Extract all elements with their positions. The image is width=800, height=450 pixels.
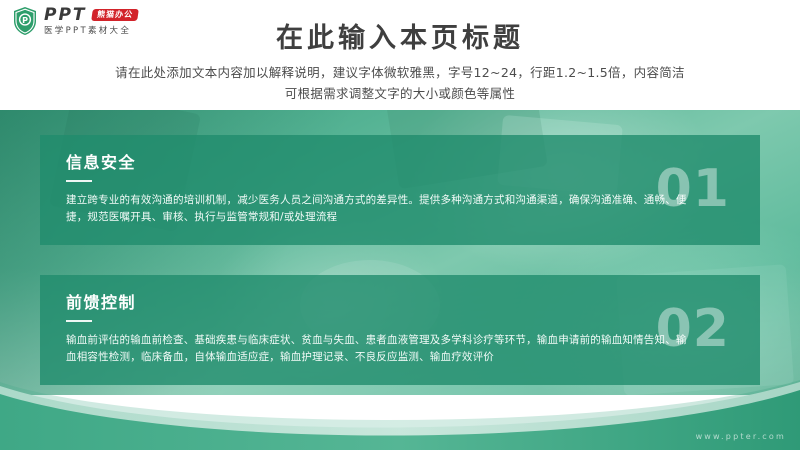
panel-body: 建立跨专业的有效沟通的培训机制，减少医务人员之间沟通方式的差异性。提供多种沟通方… bbox=[66, 192, 691, 226]
content-panel-02[interactable]: 前馈控制 输血前评估的输血前检查、基础疾患与临床症状、贫血与失血、患者血液管理及… bbox=[40, 275, 760, 385]
page-subtitle: 请在此处添加文本内容加以解释说明，建议字体微软雅黑，字号12~24，行距1.2~… bbox=[0, 62, 800, 104]
panel-number: 02 bbox=[656, 303, 730, 355]
footer-wave-decoration bbox=[0, 380, 800, 450]
page-title: 在此输入本页标题 bbox=[0, 16, 800, 55]
panel-body: 输血前评估的输血前检查、基础疾患与临床症状、贫血与失血、患者血液管理及多学科诊疗… bbox=[66, 332, 691, 366]
panel-heading: 前馈控制 bbox=[66, 295, 734, 311]
heading-divider bbox=[66, 180, 92, 182]
content-panel-01[interactable]: 信息安全 建立跨专业的有效沟通的培训机制，减少医务人员之间沟通方式的差异性。提供… bbox=[40, 135, 760, 245]
subtitle-line-1: 请在此处添加文本内容加以解释说明，建议字体微软雅黑，字号12~24，行距1.2~… bbox=[0, 62, 800, 83]
panel-number: 01 bbox=[656, 163, 730, 215]
heading-divider bbox=[66, 320, 92, 322]
footer-url: www.ppter.com bbox=[696, 432, 786, 441]
subtitle-line-2: 可根据需求调整文字的大小或颜色等属性 bbox=[0, 83, 800, 104]
content-stage: 信息安全 建立跨专业的有效沟通的培训机制，减少医务人员之间沟通方式的差异性。提供… bbox=[0, 110, 800, 395]
panel-heading: 信息安全 bbox=[66, 155, 734, 171]
